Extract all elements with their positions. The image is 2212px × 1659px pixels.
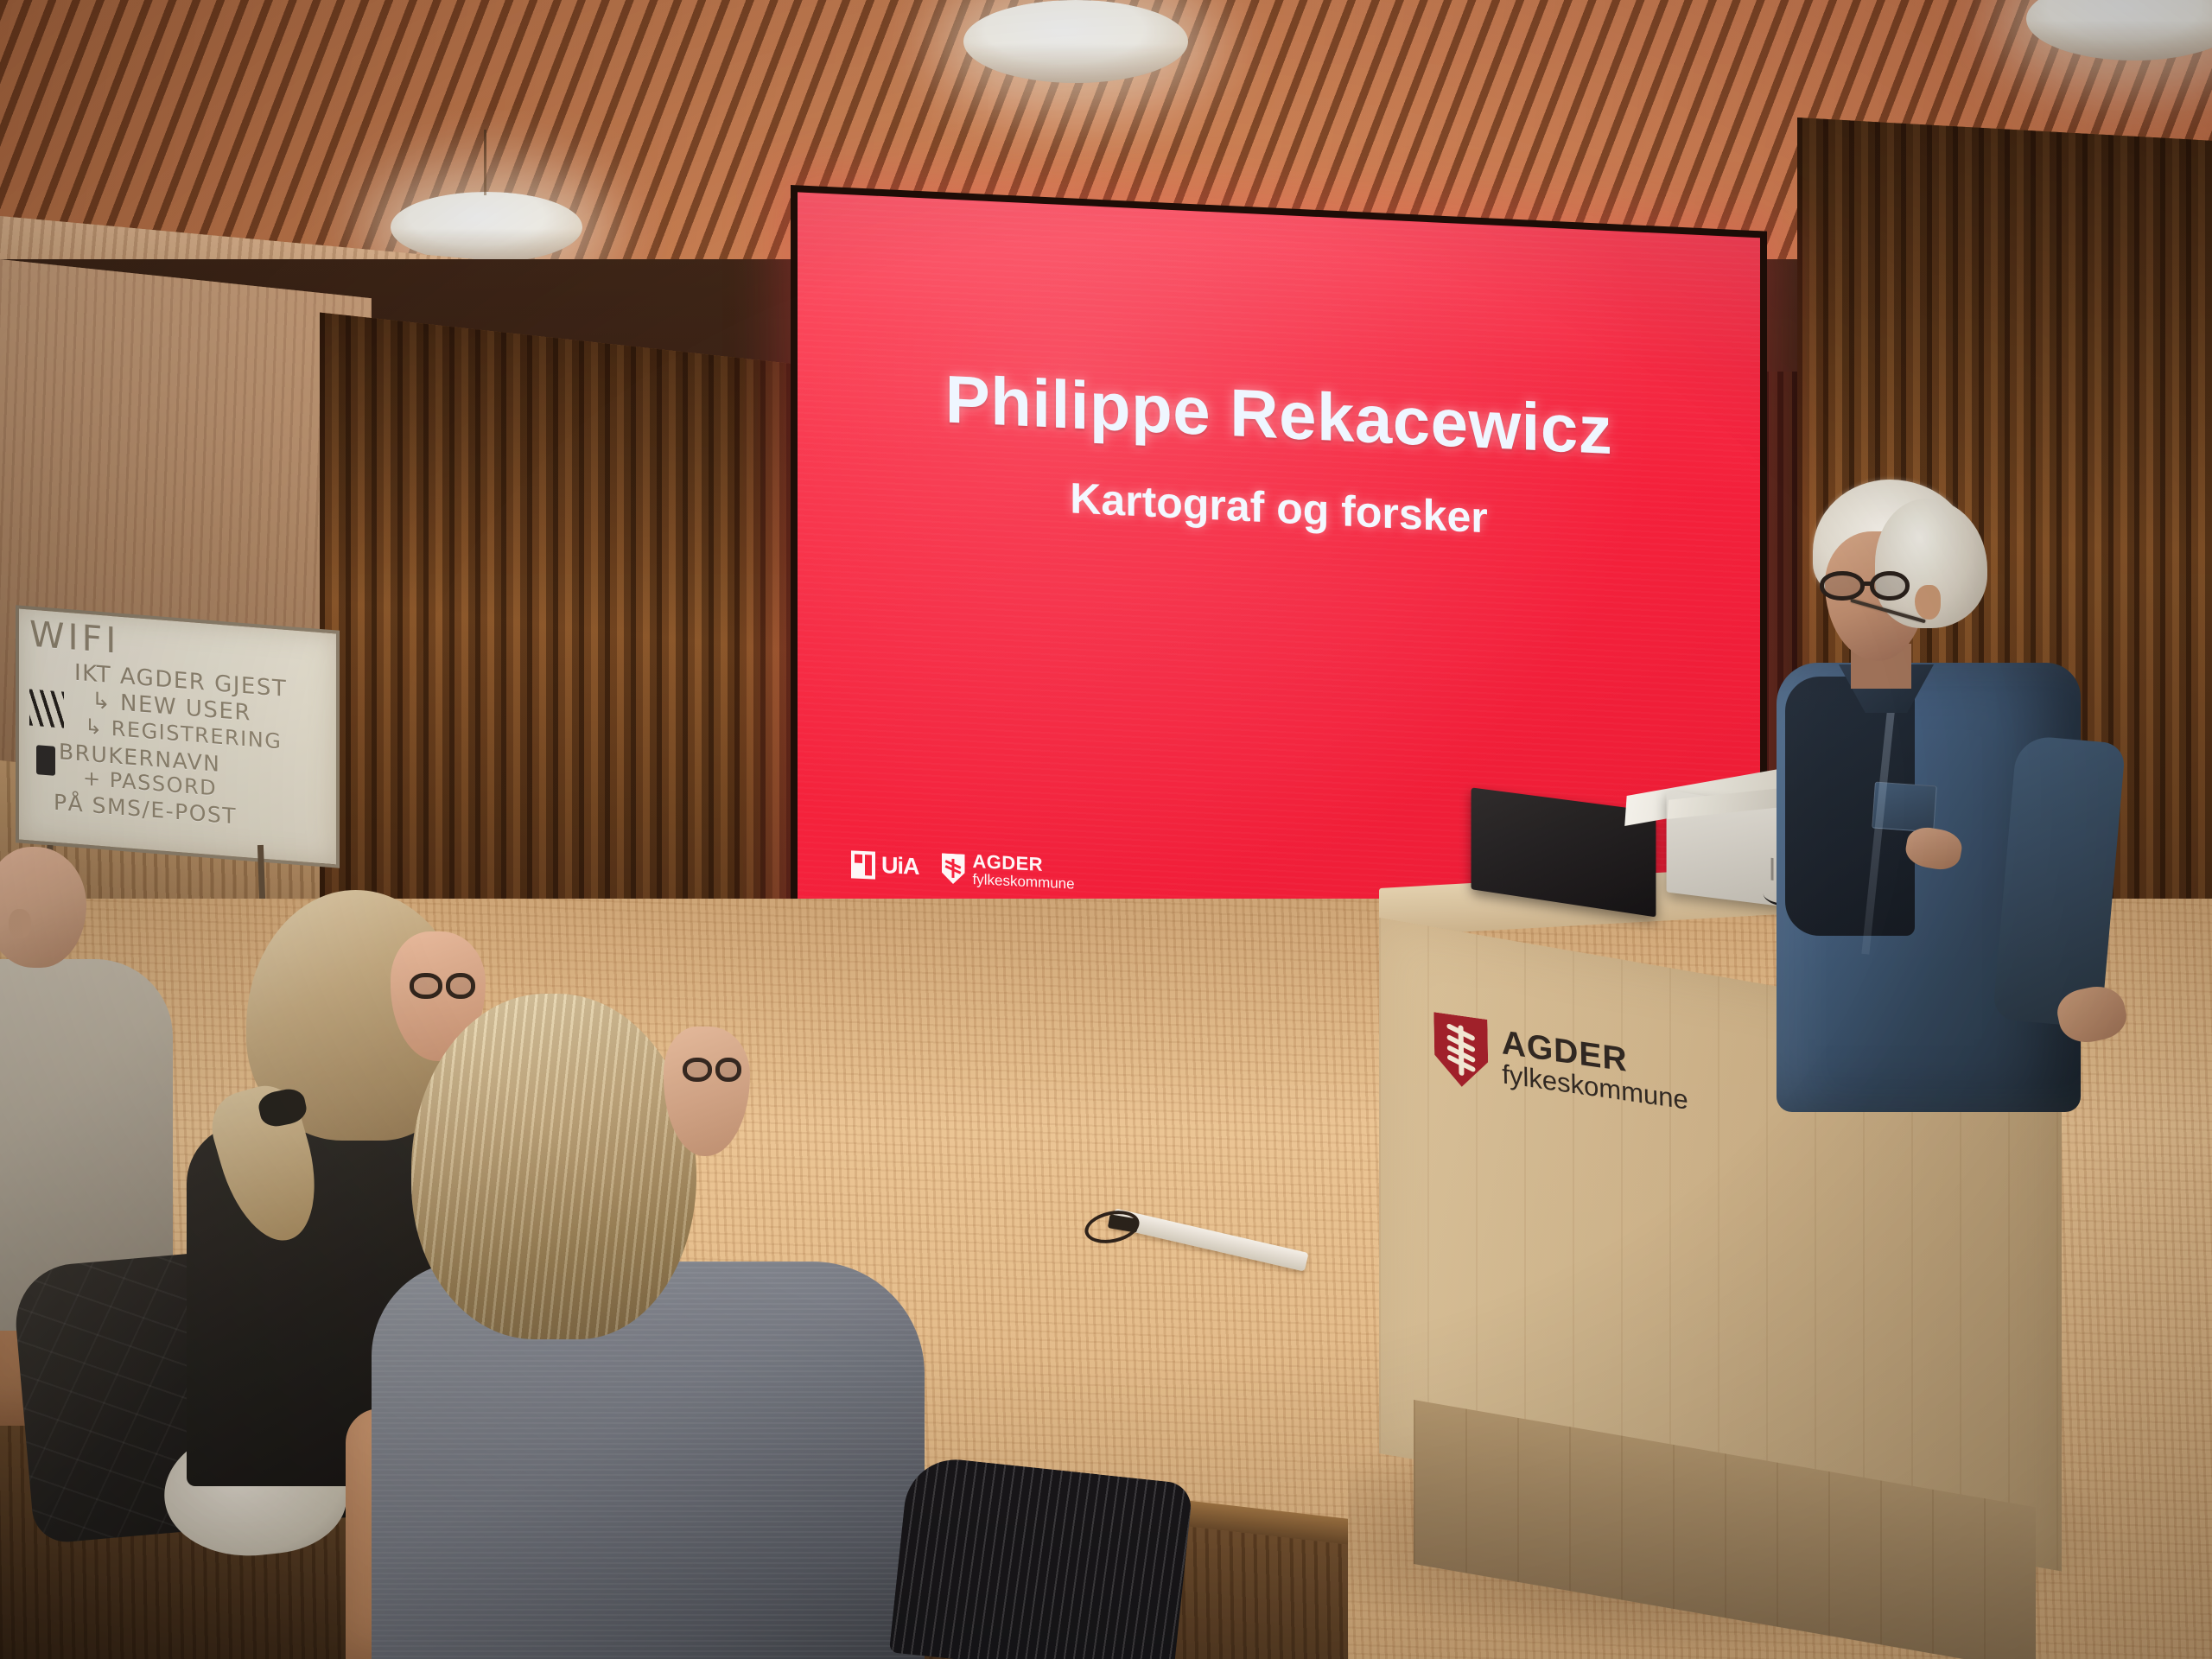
whiteboard: WIFI IKT AGDER GJEST ↳ NEW USER ↳ REGIST… (16, 605, 340, 868)
speaker-presenter (1745, 480, 2108, 1119)
ceiling-light-3 (391, 192, 582, 263)
agder-shield-icon (942, 853, 965, 884)
agder-logo-text: AGDER fylkeskommune (973, 852, 1075, 892)
uia-logo: UiA (851, 850, 919, 881)
uia-logo-label: UiA (881, 854, 919, 879)
ceiling-light-1 (963, 0, 1188, 83)
speaker-glasses-icon (1820, 571, 1930, 601)
whiteboard-text: WIFI IKT AGDER GJEST ↳ NEW USER ↳ REGIST… (29, 613, 333, 837)
uia-mark-icon (851, 850, 875, 879)
audience-person-3-hair-strands (411, 994, 696, 1339)
audience-person-3-trousers (889, 1454, 1193, 1659)
audience-person-3-glasses-icon (683, 1058, 741, 1082)
audience-person-1-ear (9, 909, 31, 938)
audience-person-2-glasses-icon (410, 973, 477, 999)
agder-coat-of-arms-icon (1433, 1012, 1488, 1090)
agder-logo-slide: AGDER fylkeskommune (942, 851, 1075, 893)
audience-person-3-sweater-texture (372, 1262, 925, 1659)
lecture-hall-photo: Philippe Rekacewicz Kartograf og forsker… (0, 0, 2212, 1659)
ceiling-light-stem-3 (484, 130, 486, 195)
